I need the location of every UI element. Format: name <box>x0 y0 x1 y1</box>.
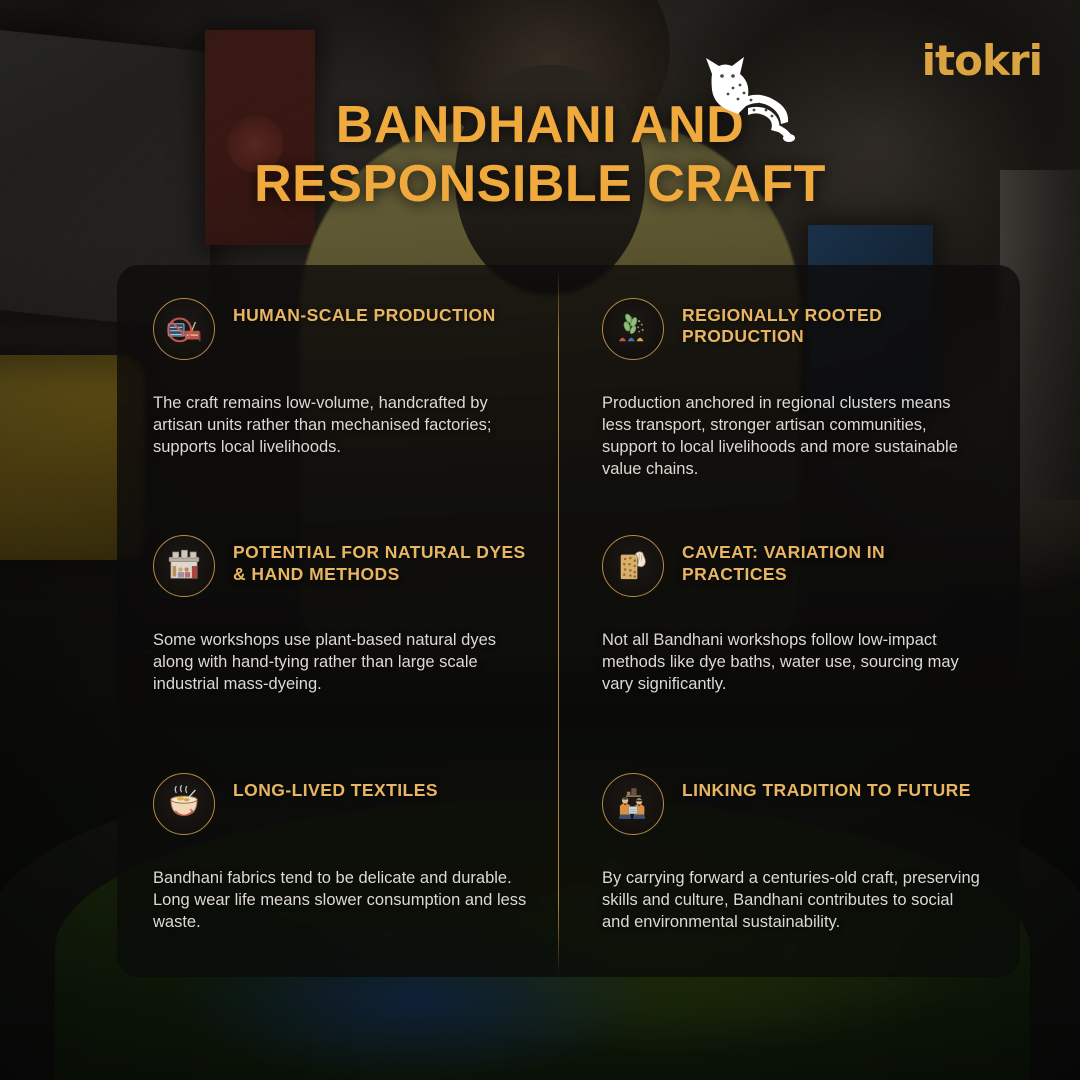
card-body: Production anchored in regional clusters… <box>602 393 984 481</box>
card-body: Some workshops use plant-based natural d… <box>153 630 530 696</box>
infographic-poster: itokri BANDHANI AND RESPONSIBLE CRAFT <box>0 0 1080 1080</box>
leaves-and-dye-powders-icon <box>602 298 664 360</box>
no-factory-icon <box>153 298 215 360</box>
card-title: REGIONALLY ROOTED PRODUCTION <box>682 298 984 348</box>
feature-card-caveat-variation-in-practices: CAVEAT: VARIATION IN PRACTICES Not all B… <box>558 502 1020 739</box>
card-title: HUMAN-SCALE PRODUCTION <box>233 298 496 326</box>
poster-header: itokri BANDHANI AND RESPONSIBLE CRAFT <box>0 0 1080 250</box>
hand-holding-patterned-fabric-icon <box>602 535 664 597</box>
card-header: POTENTIAL FOR NATURAL DYES & HAND METHOD… <box>153 535 530 597</box>
feature-card-linking-tradition-to-future: LINKING TRADITION TO FUTURE By carrying … <box>558 740 1020 977</box>
itokri-logo[interactable]: itokri <box>922 40 1042 82</box>
card-header: CAVEAT: VARIATION IN PRACTICES <box>602 535 984 597</box>
card-header: REGIONALLY ROOTED PRODUCTION <box>602 298 984 360</box>
feature-card-regionally-rooted-production: REGIONALLY ROOTED PRODUCTION Production … <box>558 265 1020 502</box>
card-title: CAVEAT: VARIATION IN PRACTICES <box>682 535 984 585</box>
feature-card-natural-dyes-hand-methods: POTENTIAL FOR NATURAL DYES & HAND METHOD… <box>117 502 558 739</box>
cat-illustration <box>688 52 798 148</box>
title-line-1: BANDHANI AND <box>0 96 1080 155</box>
card-title: LONG-LIVED TEXTILES <box>233 773 438 801</box>
feature-card-long-lived-textiles: LONG-LIVED TEXTILES Bandhani fabrics ten… <box>117 740 558 977</box>
card-header: HUMAN-SCALE PRODUCTION <box>153 298 530 360</box>
card-header: LINKING TRADITION TO FUTURE <box>602 773 984 835</box>
two-artisans-working-icon <box>602 773 664 835</box>
card-header: LONG-LIVED TEXTILES <box>153 773 530 835</box>
card-title: LINKING TRADITION TO FUTURE <box>682 773 971 801</box>
card-body: Not all Bandhani workshops follow low-im… <box>602 630 984 696</box>
card-title: POTENTIAL FOR NATURAL DYES & HAND METHOD… <box>233 535 530 585</box>
steaming-dye-pot-icon <box>153 773 215 835</box>
artisan-workshop-building-icon <box>153 535 215 597</box>
title-line-2: RESPONSIBLE CRAFT <box>0 155 1080 214</box>
card-body: The craft remains low-volume, handcrafte… <box>153 393 530 459</box>
card-body: By carrying forward a centuries-old craf… <box>602 868 984 934</box>
card-body: Bandhani fabrics tend to be delicate and… <box>153 868 530 934</box>
page-title: BANDHANI AND RESPONSIBLE CRAFT <box>0 96 1080 214</box>
feature-grid: HUMAN-SCALE PRODUCTION The craft remains… <box>117 265 1020 977</box>
feature-card-human-scale-production: HUMAN-SCALE PRODUCTION The craft remains… <box>117 265 558 502</box>
